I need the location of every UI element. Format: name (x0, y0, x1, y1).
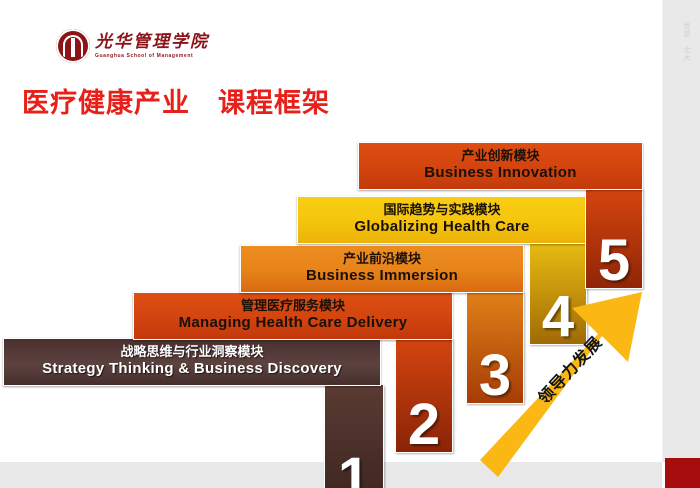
step-label-cn-2: 管理医疗服务模块 (241, 298, 345, 314)
step-number-column-1: 1 (324, 385, 384, 488)
page-title: 医疗健康产业 课程框架 (22, 86, 330, 120)
logo-chinese-name: 光华管理学院 (95, 33, 209, 52)
guanghua-seal-icon (56, 29, 90, 63)
step-label-en-2: Managing Health Care Delivery (179, 314, 408, 332)
step-label-bar-2: 管理医疗服务模块 Managing Health Care Delivery (133, 292, 453, 340)
step-number-column-2: 2 (395, 339, 453, 453)
guanghua-logo: 光华管理学院 Guanghua School of Management (56, 27, 209, 65)
leadership-growth-arrow: 领导力发展 (480, 262, 660, 477)
step-label-en-4: Globalizing Health Care (354, 218, 529, 236)
step-label-bar-4: 国际趋势与实践模块 Globalizing Health Care (297, 196, 587, 244)
step-label-cn-3: 产业前沿模块 (343, 251, 421, 267)
step-label-en-5: Business Innovation (424, 164, 576, 182)
logo-wordmark: 光华管理学院 Guanghua School of Management (95, 33, 209, 60)
step-label-en-1: Strategy Thinking & Business Discovery (42, 360, 342, 378)
step-label-cn-5: 产业创新模块 (461, 148, 539, 164)
step-label-bar-5: 产业创新模块 Business Innovation (358, 142, 643, 190)
step-label-cn-4: 国际趋势与实践模块 (383, 202, 500, 218)
logo-english-name: Guanghua School of Management (95, 52, 209, 60)
step-number-1: 1 (338, 452, 370, 488)
step-label-bar-1: 战略思维与行业洞察模块 Strategy Thinking & Business… (3, 338, 381, 386)
footer-accent-block (665, 458, 700, 488)
step-number-2: 2 (408, 398, 440, 452)
step-label-cn-1: 战略思维与行业洞察模块 (120, 344, 263, 360)
sidebar-watermark-text: 思想 北大 (669, 22, 691, 62)
step-label-en-3: Business Immersion (306, 267, 458, 285)
right-sidebar-panel (662, 0, 700, 462)
slide-canvas: 思想 北大 光华管理学院 Guanghua School of Manageme… (0, 0, 700, 488)
